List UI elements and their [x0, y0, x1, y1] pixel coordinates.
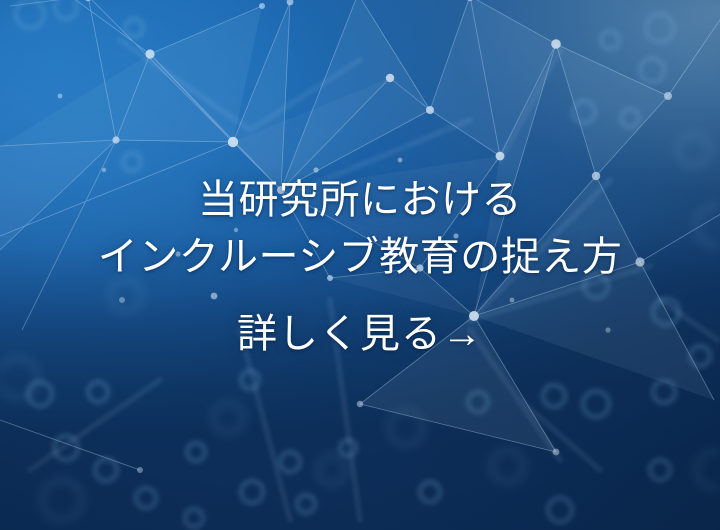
read-more-link[interactable]: 詳しく見る→ — [237, 310, 483, 358]
headline-line-1: 当研究所における — [98, 172, 623, 229]
hero-content: 当研究所における インクルーシブ教育の捉え方 詳しく見る→ — [0, 0, 720, 530]
page-title: 当研究所における インクルーシブ教育の捉え方 — [98, 172, 623, 286]
hero-banner: 当研究所における インクルーシブ教育の捉え方 詳しく見る→ — [0, 0, 720, 530]
headline-line-2: インクルーシブ教育の捉え方 — [98, 229, 623, 286]
